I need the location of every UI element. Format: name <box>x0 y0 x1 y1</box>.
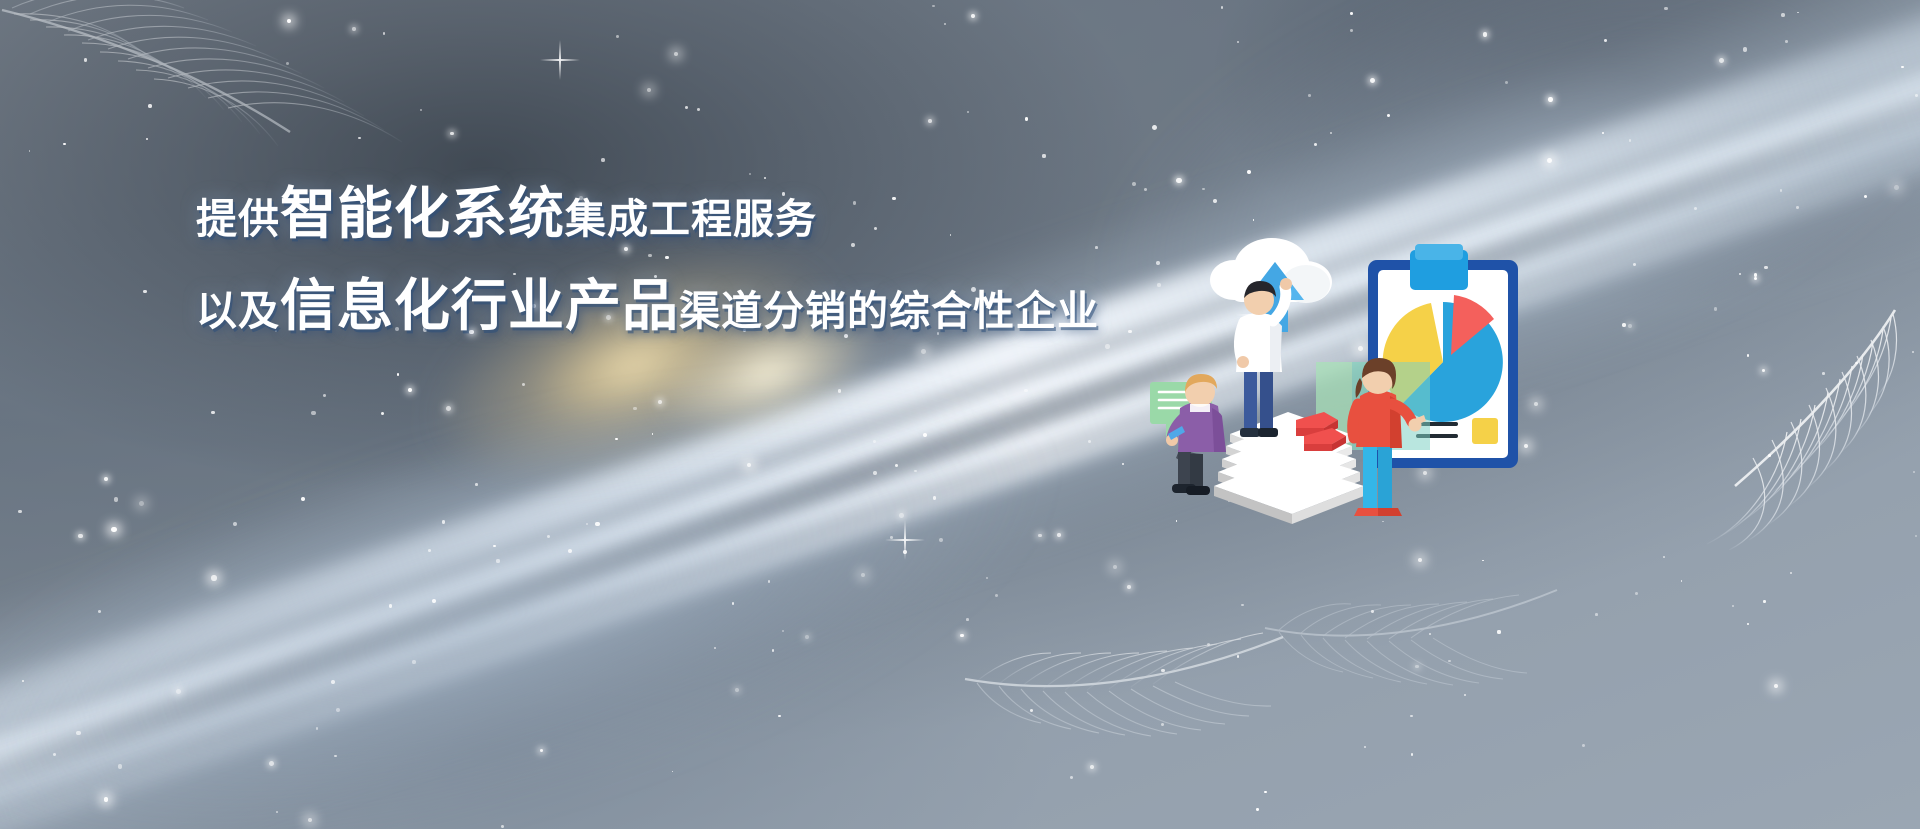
star <box>1855 362 1858 365</box>
star <box>1024 389 1028 393</box>
star <box>1694 207 1697 210</box>
star <box>323 394 326 397</box>
star <box>1364 746 1366 748</box>
star <box>98 610 102 614</box>
star <box>1411 753 1414 756</box>
star <box>1629 139 1632 142</box>
star <box>1371 610 1373 612</box>
star <box>1202 188 1205 191</box>
star <box>1633 263 1636 266</box>
star <box>1113 565 1117 569</box>
star <box>1370 78 1375 83</box>
star <box>1681 580 1683 582</box>
headline-line-1: 提供智能化系统集成工程服务 <box>196 186 1099 242</box>
star <box>1822 372 1825 375</box>
star <box>1308 94 1311 97</box>
star <box>78 534 83 539</box>
star <box>568 549 573 554</box>
star <box>397 373 399 375</box>
star <box>1915 94 1918 97</box>
business-analytics-illustration <box>1120 222 1520 522</box>
star <box>84 58 87 61</box>
star <box>658 400 662 404</box>
star <box>1762 369 1766 373</box>
star <box>1207 643 1210 646</box>
star <box>428 549 431 552</box>
star <box>1781 13 1785 17</box>
star <box>1797 12 1799 14</box>
star <box>633 407 637 411</box>
star <box>1796 206 1799 209</box>
star <box>269 761 274 766</box>
star <box>308 818 312 822</box>
headline-line2-seg2: 信息化行业产品 <box>280 274 679 337</box>
star <box>114 497 118 501</box>
star <box>53 753 56 756</box>
star <box>595 522 599 526</box>
star <box>389 604 392 607</box>
star <box>1237 655 1240 658</box>
star <box>586 523 588 525</box>
headline-line-2: 以及信息化行业产品渠道分销的综合性企业 <box>196 278 1099 334</box>
headline-line1-seg2: 智能化系统 <box>280 182 565 245</box>
hero-banner: 提供智能化系统集成工程服务 以及信息化行业产品渠道分销的综合性企业 <box>0 0 1920 829</box>
star <box>211 575 216 580</box>
star <box>1913 471 1915 473</box>
star <box>176 689 181 694</box>
star <box>1790 572 1792 574</box>
star <box>714 647 716 649</box>
star <box>1901 66 1904 69</box>
star <box>873 471 877 475</box>
star <box>1247 170 1251 174</box>
star <box>601 158 605 162</box>
star <box>778 715 781 718</box>
star <box>1547 158 1552 163</box>
star <box>336 708 340 712</box>
star <box>939 538 943 542</box>
star <box>1350 12 1353 15</box>
star <box>18 510 22 514</box>
star <box>1132 182 1136 186</box>
star <box>432 599 436 603</box>
star <box>1714 307 1717 310</box>
star <box>1161 669 1164 672</box>
standing-person <box>1236 278 1292 437</box>
star <box>1743 47 1747 51</box>
star <box>1747 623 1749 625</box>
star <box>616 35 619 38</box>
star <box>933 496 937 500</box>
star <box>1497 630 1500 633</box>
star <box>501 825 504 828</box>
star <box>1754 273 1758 277</box>
star <box>735 688 739 692</box>
star <box>1628 324 1632 328</box>
star <box>1152 125 1157 130</box>
star <box>923 433 927 437</box>
star <box>522 383 525 386</box>
star <box>22 680 24 682</box>
star <box>331 680 335 684</box>
star <box>1635 592 1638 595</box>
star <box>1763 600 1765 602</box>
star <box>287 19 291 23</box>
star <box>1548 97 1553 102</box>
star <box>768 580 771 583</box>
headline-line1-seg1: 提供 <box>196 196 280 242</box>
star <box>782 630 784 632</box>
headline-line2-seg1: 以及 <box>196 288 280 334</box>
star <box>383 32 386 35</box>
star <box>1330 132 1332 134</box>
headline-line1-seg3: 集成工程服务 <box>565 196 817 242</box>
star <box>1350 29 1353 32</box>
star <box>1213 199 1217 203</box>
star <box>1038 534 1042 538</box>
star <box>960 634 964 638</box>
star <box>1747 354 1749 356</box>
star <box>1915 535 1917 537</box>
star <box>1256 808 1258 810</box>
star <box>647 88 651 92</box>
star <box>1221 6 1224 9</box>
star <box>1070 776 1073 779</box>
star <box>1582 744 1585 747</box>
star <box>944 23 947 26</box>
star <box>1415 665 1419 669</box>
star <box>301 497 306 502</box>
star <box>844 334 848 338</box>
starfield <box>0 0 1920 829</box>
star <box>928 119 932 123</box>
star <box>772 649 774 651</box>
star <box>547 535 550 538</box>
star <box>747 463 751 467</box>
star <box>932 5 935 8</box>
star <box>1864 195 1867 198</box>
star <box>408 388 412 392</box>
star <box>1754 277 1758 281</box>
star <box>697 108 700 111</box>
star <box>873 440 876 443</box>
star <box>805 635 809 639</box>
star <box>986 577 988 579</box>
star <box>1483 32 1488 37</box>
star <box>540 749 544 753</box>
star <box>1663 556 1665 558</box>
star <box>111 527 117 533</box>
star <box>352 27 356 31</box>
headline-line2-seg3: 渠道分销的综合性企业 <box>679 288 1099 334</box>
star <box>1894 185 1899 190</box>
star <box>381 412 384 415</box>
star <box>358 137 361 140</box>
star <box>1732 605 1734 607</box>
star <box>967 111 969 113</box>
star <box>76 731 81 736</box>
star <box>899 513 904 518</box>
star <box>412 660 416 664</box>
star <box>895 464 899 468</box>
star <box>1604 39 1607 42</box>
star <box>450 132 454 136</box>
star <box>615 438 618 441</box>
star <box>496 559 499 562</box>
star <box>29 150 31 152</box>
star <box>1090 765 1094 769</box>
star <box>148 104 152 108</box>
star <box>1314 143 1317 146</box>
star <box>475 483 478 486</box>
star <box>1127 585 1131 589</box>
star <box>1534 402 1538 406</box>
star <box>861 573 865 577</box>
headline-block: 提供智能化系统集成工程服务 以及信息化行业产品渠道分销的综合性企业 <box>196 186 1099 334</box>
star <box>334 755 336 757</box>
star <box>1622 323 1626 327</box>
star <box>1595 613 1598 616</box>
star <box>1042 154 1045 157</box>
star <box>1176 178 1181 183</box>
star <box>838 389 842 393</box>
star <box>1719 58 1724 63</box>
star <box>1739 273 1741 275</box>
star <box>1448 660 1450 662</box>
star <box>1764 266 1768 270</box>
star <box>749 173 751 175</box>
star <box>1144 188 1147 191</box>
star <box>995 594 998 597</box>
star <box>420 109 422 111</box>
star <box>1768 454 1771 457</box>
star <box>1774 684 1778 688</box>
star <box>732 602 735 605</box>
star <box>1253 219 1255 221</box>
star <box>211 411 214 414</box>
star <box>966 618 969 621</box>
star <box>1912 351 1915 354</box>
star <box>233 522 237 526</box>
star <box>1237 41 1239 43</box>
star <box>1505 81 1508 84</box>
star <box>446 406 451 411</box>
sparkle-star <box>885 520 925 560</box>
star <box>1105 344 1110 349</box>
star <box>674 52 678 56</box>
star <box>63 143 66 146</box>
star <box>1664 7 1668 11</box>
star <box>652 433 654 435</box>
star <box>1785 40 1788 43</box>
star <box>104 797 109 802</box>
star <box>442 520 446 524</box>
star <box>1418 558 1422 562</box>
star <box>1410 715 1412 717</box>
star <box>1482 560 1484 562</box>
star <box>1264 791 1267 794</box>
star <box>1057 533 1061 537</box>
star <box>672 771 674 773</box>
star <box>764 177 766 179</box>
star <box>1524 444 1528 448</box>
star <box>311 411 315 415</box>
star <box>685 106 688 109</box>
star <box>1464 694 1466 696</box>
star <box>276 811 278 813</box>
star <box>118 764 122 768</box>
star <box>1429 633 1431 635</box>
star <box>1161 723 1164 726</box>
sparkle-star <box>540 40 580 80</box>
star <box>1025 117 1028 120</box>
star <box>914 470 917 473</box>
star <box>1088 440 1091 443</box>
star <box>1780 189 1783 192</box>
star <box>139 501 144 506</box>
star <box>143 290 146 293</box>
star <box>971 14 975 18</box>
star <box>1602 132 1604 134</box>
star <box>146 138 149 141</box>
star <box>1387 114 1390 117</box>
star <box>1241 604 1244 607</box>
star <box>1030 709 1034 713</box>
star <box>921 349 926 354</box>
star <box>286 62 290 66</box>
star <box>316 727 319 730</box>
star <box>104 477 108 481</box>
star <box>493 545 495 547</box>
